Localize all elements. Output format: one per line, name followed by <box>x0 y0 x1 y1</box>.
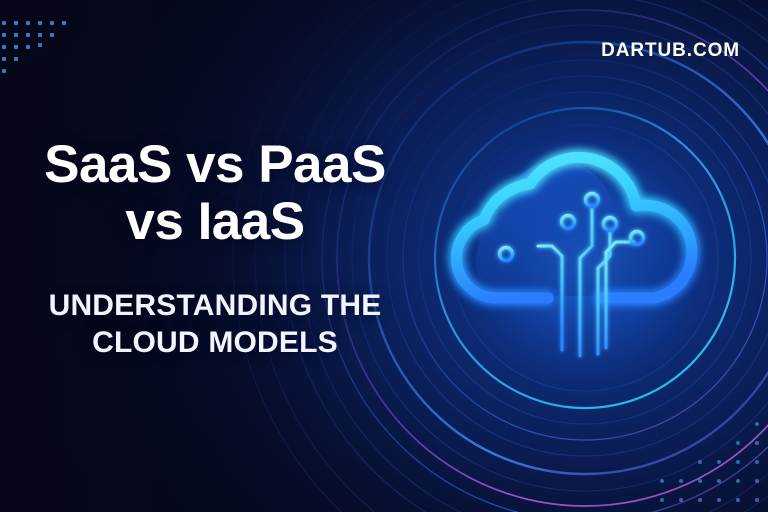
brand-text: DARTUB.COM <box>601 40 740 61</box>
page-title: SaaS vs PaaS vs IaaS <box>0 136 430 250</box>
left-fade-overlay <box>0 0 768 512</box>
poster-canvas: DARTUB.COM SaaS vs PaaS vs IaaS UNDERSTA… <box>0 0 768 512</box>
subhead-line-1: UNDERSTANDING THE <box>0 288 430 325</box>
page-subtitle: UNDERSTANDING THE CLOUD MODELS <box>0 288 430 362</box>
brand-watermark: DARTUB.COM <box>601 40 740 62</box>
headline-line-1: SaaS vs PaaS <box>0 136 430 193</box>
subhead-line-2: CLOUD MODELS <box>0 325 430 362</box>
headline-line-2: vs IaaS <box>0 193 430 250</box>
